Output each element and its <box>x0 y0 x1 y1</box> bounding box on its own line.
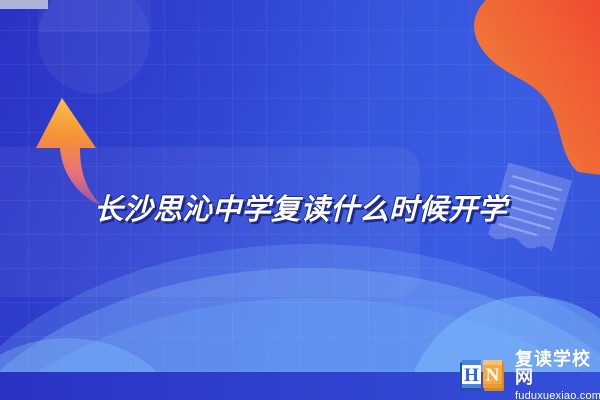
banner: 长沙思沁中学复读什么时候开学 H N 复读学校网 fuduxuexiao.com <box>0 0 600 400</box>
svg-text:H: H <box>464 365 479 386</box>
site-logo[interactable]: H N 复读学校网 fuduxuexiao.com <box>458 350 600 400</box>
svg-text:N: N <box>486 365 500 386</box>
site-name: 复读学校网 <box>515 350 600 386</box>
hn-book-icon: H N <box>458 358 506 394</box>
page-title: 长沙思沁中学复读什么时候开学 <box>94 186 514 228</box>
top-left-bar <box>0 0 48 9</box>
decorative-rectangle <box>38 0 151 32</box>
site-url: fuduxuexiao.com <box>515 391 600 400</box>
logo-text-block: 复读学校网 fuduxuexiao.com <box>515 350 600 400</box>
gradient-blob-shape <box>410 0 600 176</box>
